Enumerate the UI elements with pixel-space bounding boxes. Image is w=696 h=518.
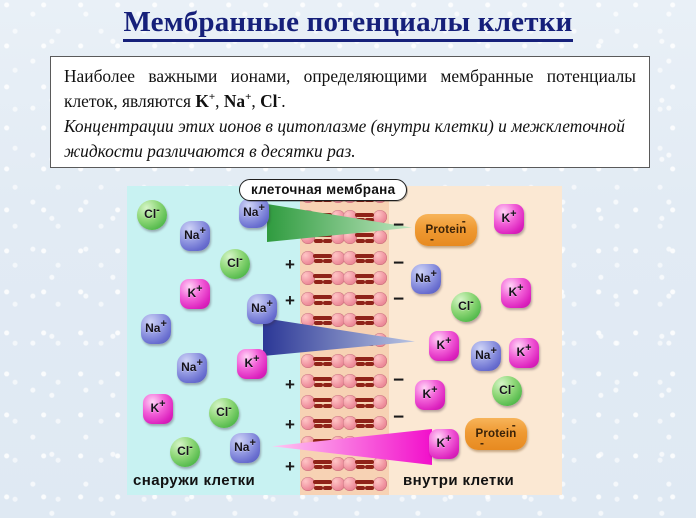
- charge-sign-outside: +: [285, 376, 295, 393]
- protein-charge-top: -: [462, 215, 466, 227]
- charge-sign-inside: −: [393, 254, 404, 273]
- ion-label: K+: [508, 285, 523, 299]
- ion-label: Na+: [145, 321, 167, 335]
- phospholipid-tail: [365, 465, 374, 469]
- phospholipid-tail: [319, 295, 332, 299]
- phospholipid-head: [301, 395, 315, 409]
- phospholipid-head: [343, 251, 357, 265]
- ion-na-outside-1: Na+: [180, 221, 210, 251]
- ion-label: Cl-: [216, 405, 232, 419]
- phospholipid-head: [373, 477, 387, 491]
- ion-label: K+: [436, 436, 451, 450]
- ion-k-inside-4: K+: [429, 331, 459, 361]
- ion-cl-outside-11: Cl-: [170, 437, 200, 467]
- phospholipid-row: [300, 289, 389, 310]
- membrane-label-pill: клеточная мембрана: [239, 179, 407, 201]
- phospholipid-row: [300, 371, 389, 392]
- charge-sign-outside: +: [285, 416, 295, 433]
- phospholipid-tail: [314, 259, 323, 263]
- phospholipid-head: [373, 251, 387, 265]
- protein-charge-top: -: [512, 419, 516, 431]
- phospholipid-tail: [323, 383, 332, 387]
- phospholipid-tail: [323, 465, 332, 469]
- ion-cl-outside-0: Cl-: [137, 200, 167, 230]
- ion-label: Na+: [181, 360, 203, 374]
- charge-sign-outside: +: [285, 256, 295, 273]
- phospholipid-head: [373, 416, 387, 430]
- ion-na-outside-12: Na+: [230, 433, 260, 463]
- ion-symbol-na: Na+: [224, 91, 252, 111]
- phospholipid-head: [373, 271, 387, 285]
- ion-label: Cl-: [227, 256, 243, 270]
- ion-label: K+: [187, 286, 202, 300]
- phospholipid-tail: [365, 404, 374, 408]
- phospholipid-tail: [314, 486, 323, 490]
- ion-label: K+: [422, 387, 437, 401]
- phospholipid-tail: [365, 259, 374, 263]
- phospholipid-tail: [361, 377, 374, 381]
- ion-k-outside-4: K+: [180, 279, 210, 309]
- ion-label: K+: [516, 345, 531, 359]
- description-paragraph-1: Наиболее важными ионами, определяющими м…: [64, 64, 636, 113]
- phospholipid-tail: [314, 362, 323, 366]
- phospholipid-tail: [319, 480, 332, 484]
- phospholipid-tail: [365, 383, 374, 387]
- ion-label: Cl-: [144, 207, 160, 221]
- page-title-text: Мембранные потенциалы клетки: [123, 6, 572, 42]
- ion-k-outside-9: K+: [143, 394, 173, 424]
- ion-cl-inside-2: Cl-: [451, 292, 481, 322]
- ion-label: Na+: [251, 301, 273, 315]
- phospholipid-tail: [361, 357, 374, 361]
- cell-membrane-diagram: +++++−−−−− Cl-Na+Na+Cl-K+Na+Na+Na+K+K+Cl…: [127, 186, 562, 495]
- ion-label: K+: [150, 401, 165, 415]
- outside-cell-caption: снаружи клетки: [133, 472, 255, 489]
- charge-sign-outside: +: [285, 458, 295, 475]
- phospholipid-row: [300, 392, 389, 413]
- ion-label: Cl-: [458, 299, 474, 313]
- ion-na-outside-6: Na+: [141, 314, 171, 344]
- phospholipid-tail: [365, 424, 374, 428]
- phospholipid-tail: [323, 362, 332, 366]
- phospholipid-tail: [323, 301, 332, 305]
- phospholipid-tail: [356, 259, 365, 263]
- phospholipid-tail: [356, 424, 365, 428]
- ion-label: K+: [501, 211, 516, 225]
- phospholipid-head: [373, 395, 387, 409]
- phospholipid-head: [301, 416, 315, 430]
- phospholipid-tail: [361, 480, 374, 484]
- phospholipid-tail: [365, 362, 374, 366]
- page-title: Мембранные потенциалы клетки: [0, 6, 696, 39]
- inside-cell-caption: внутри клетки: [403, 472, 514, 489]
- phospholipid-tail: [314, 424, 323, 428]
- ion-k-inside-6: K+: [509, 338, 539, 368]
- phospholipid-tail: [323, 486, 332, 490]
- ion-label: Na+: [475, 348, 497, 362]
- phospholipid-tail: [356, 280, 365, 284]
- phospholipid-tail: [365, 280, 374, 284]
- ion-label: Na+: [415, 271, 437, 285]
- phospholipid-tail: [356, 465, 365, 469]
- phospholipid-tail: [319, 254, 332, 258]
- charge-sign-inside: −: [393, 371, 404, 390]
- phospholipid-tail: [356, 301, 365, 305]
- phospholipid-head: [373, 374, 387, 388]
- ion-label: Cl-: [499, 383, 515, 397]
- phospholipid-tail: [356, 362, 365, 366]
- phospholipid-tail: [323, 404, 332, 408]
- ion-k-inside-0: K+: [494, 204, 524, 234]
- phospholipid-head: [343, 292, 357, 306]
- phospholipid-tail: [361, 398, 374, 402]
- green-arrow: [267, 204, 412, 242]
- phospholipid-tail: [365, 486, 374, 490]
- ion-na-outside-5: Na+: [247, 294, 277, 324]
- charge-sign-inside: −: [393, 216, 404, 235]
- ion-na-outside-7: Na+: [177, 353, 207, 383]
- protein-charge-bottom: -: [480, 437, 484, 449]
- blue-arrow: [263, 318, 415, 356]
- charge-sign-inside: −: [393, 290, 404, 309]
- phospholipid-tail: [323, 259, 332, 263]
- phospholipid-tail: [319, 419, 332, 423]
- ion-na-inside-5: Na+: [471, 341, 501, 371]
- phospholipid-tail: [314, 280, 323, 284]
- phospholipid-tail: [361, 274, 374, 278]
- protein-charge-bottom: -: [430, 233, 434, 245]
- ion-k-inside-3: K+: [501, 278, 531, 308]
- ion-label: Na+: [243, 205, 265, 219]
- phospholipid-tail: [319, 357, 332, 361]
- phospholipid-tail: [314, 404, 323, 408]
- phospholipid-tail: [314, 383, 323, 387]
- paragraph-1-lead: Наиболее важными ионами, определяющими м…: [64, 66, 636, 111]
- phospholipid-tail: [361, 295, 374, 299]
- phospholipid-tail: [319, 377, 332, 381]
- phospholipid-tail: [356, 404, 365, 408]
- phospholipid-head: [373, 292, 387, 306]
- phospholipid-tail: [323, 424, 332, 428]
- phospholipid-tail: [319, 274, 332, 278]
- ion-cl-inside-8: Cl-: [492, 376, 522, 406]
- ion-cl-outside-3: Cl-: [220, 249, 250, 279]
- ion-label: K+: [244, 356, 259, 370]
- charge-sign-inside: −: [393, 408, 404, 427]
- ion-cl-outside-10: Cl-: [209, 398, 239, 428]
- ion-label: Cl-: [177, 444, 193, 458]
- ion-symbol-cl: Cl-: [260, 91, 281, 111]
- phospholipid-tail: [356, 383, 365, 387]
- ion-label: Na+: [234, 440, 256, 454]
- phospholipid-row: [300, 268, 389, 289]
- description-textbox: Наиболее важными ионами, определяющими м…: [50, 56, 650, 168]
- ion-na-outside-2: Na+: [239, 198, 269, 228]
- phospholipid-tail: [314, 301, 323, 305]
- phospholipid-row: [300, 474, 389, 495]
- ion-na-inside-1: Na+: [411, 264, 441, 294]
- phospholipid-tail: [361, 254, 374, 258]
- phospholipid-tail: [323, 280, 332, 284]
- phospholipid-tail: [319, 398, 332, 402]
- ion-k-inside-9: K+: [429, 429, 459, 459]
- phospholipid-tail: [314, 465, 323, 469]
- phospholipid-head: [301, 251, 315, 265]
- protein-molecule-0: -Protein-: [415, 214, 477, 246]
- description-paragraph-2: Концентрации этих ионов в цитоплазме (вн…: [64, 114, 636, 163]
- phospholipid-tail: [361, 419, 374, 423]
- ion-symbol-k: K+: [195, 91, 215, 111]
- phospholipid-head: [343, 395, 357, 409]
- phospholipid-head: [343, 416, 357, 430]
- phospholipid-row: [300, 248, 389, 269]
- charge-sign-outside: +: [285, 292, 295, 309]
- ion-label: Na+: [184, 228, 206, 242]
- phospholipid-tail: [356, 486, 365, 490]
- protein-molecule-1: -Protein-: [465, 418, 527, 450]
- phospholipid-tail: [365, 301, 374, 305]
- ion-k-outside-8: K+: [237, 349, 267, 379]
- ion-k-inside-7: K+: [415, 380, 445, 410]
- magenta-arrow: [272, 429, 432, 465]
- phospholipid-head: [301, 292, 315, 306]
- ion-label: K+: [436, 338, 451, 352]
